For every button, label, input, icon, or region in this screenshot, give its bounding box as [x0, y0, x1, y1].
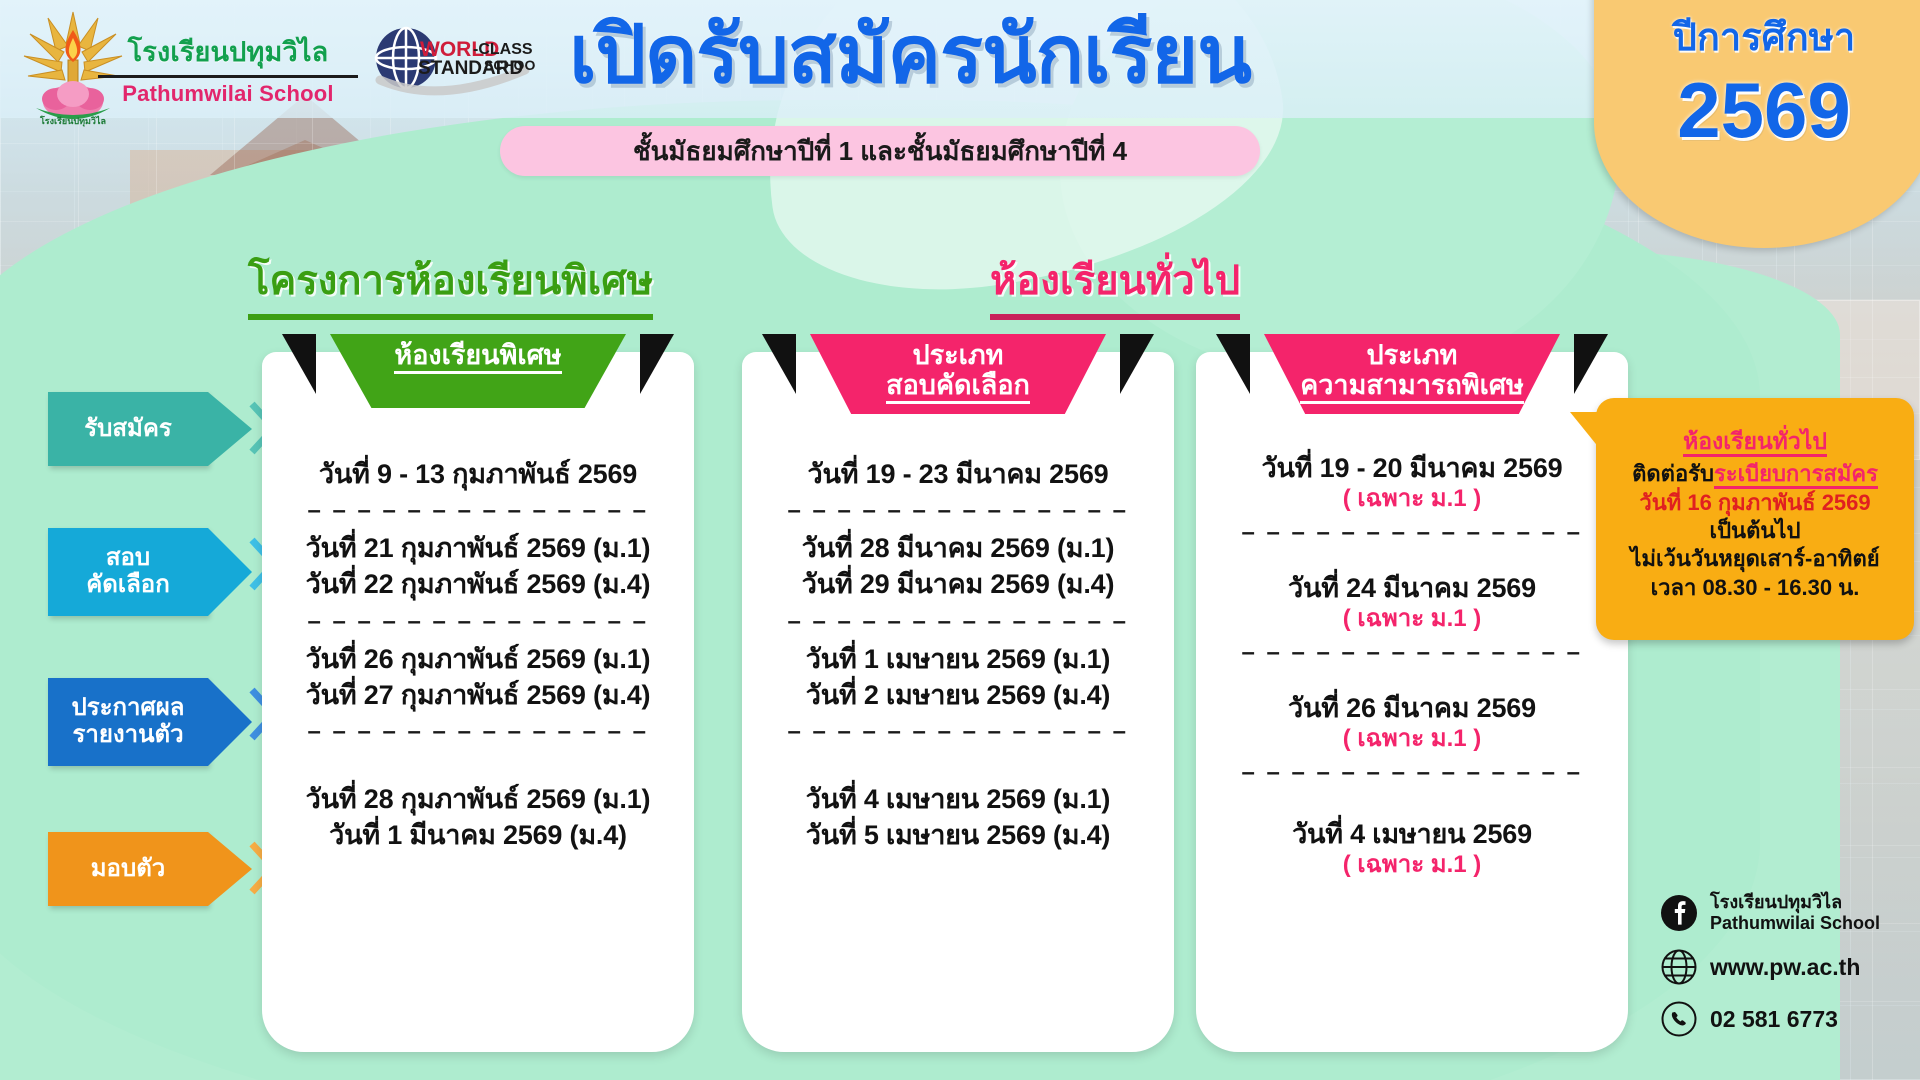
- poster-root: โรงเรียนปทุมวิไล โรงเรียนปทุมวิไล Pathum…: [0, 0, 1920, 1080]
- schedule-group: วันที่ 26 มีนาคม 2569 ( เฉพาะ ม.1 ): [1206, 690, 1618, 754]
- ribbon-wing-right: [1120, 334, 1154, 394]
- card-body: วันที่ 19 - 20 มีนาคม 2569 ( เฉพาะ ม.1 )…: [1196, 426, 1628, 1042]
- schedule-date: วันที่ 26 กุมภาพันธ์ 2569 (ม.1): [272, 641, 684, 677]
- section-title-general-program: ห้องเรียนทั่วไป: [990, 248, 1240, 320]
- schedule-card-special-classroom: ห้องเรียนพิเศษ วันที่ 9 - 13 กุมภาพันธ์ …: [262, 352, 694, 1052]
- step-arrow-icon: [208, 832, 252, 906]
- school-name-en: Pathumwilai School: [98, 81, 358, 107]
- card-body: วันที่ 19 - 23 มีนาคม 2569 – – – – – – –…: [742, 426, 1174, 1042]
- callout-contact-prefix: ติดต่อรับ: [1632, 461, 1714, 486]
- schedule-date: วันที่ 2 เมษายน 2569 (ม.4): [752, 677, 1164, 713]
- schedule-date: วันที่ 21 กุมภาพันธ์ 2569 (ม.1): [272, 530, 684, 566]
- schedule-date: วันที่ 27 กุมภาพันธ์ 2569 (ม.4): [272, 677, 684, 713]
- step-arrow-icon: [208, 392, 252, 466]
- academic-year-label: ปีการศึกษา: [1594, 6, 1920, 67]
- schedule-date: วันที่ 5 เมษายน 2569 (ม.4): [752, 817, 1164, 853]
- schedule-group: วันที่ 4 เมษายน 2569 ( เฉพาะ ม.1 ): [1206, 816, 1618, 880]
- schedule-date: วันที่ 28 มีนาคม 2569 (ม.1): [752, 530, 1164, 566]
- schedule-date: วันที่ 4 เมษายน 2569: [1206, 816, 1618, 852]
- schedule-note: ( เฉพาะ ม.1 ): [1206, 851, 1618, 880]
- card-ribbon-special-ability: ประเภท ความสามารถพิเศษ: [1264, 334, 1560, 414]
- general-classroom-callout: ห้องเรียนทั่วไป ติดต่อรับระเบียบการสมัคร…: [1596, 398, 1914, 640]
- ribbon-title-line2: ความสามารถพิเศษ: [1300, 370, 1524, 404]
- ribbon-wing-left: [1216, 334, 1250, 394]
- schedule-note: ( เฉพาะ ม.1 ): [1206, 485, 1618, 514]
- schedule-card-special-ability: ประเภท ความสามารถพิเศษ วันที่ 19 - 20 มี…: [1196, 352, 1628, 1052]
- contact-website[interactable]: www.pw.ac.th: [1660, 948, 1920, 986]
- schedule-card-exam-type: ประเภท สอบคัดเลือก วันที่ 19 - 23 มีนาคม…: [742, 352, 1174, 1052]
- step-enroll[interactable]: มอบตัว: [48, 832, 208, 906]
- divider-dashes: – – – – – – – – – – – – – –: [752, 499, 1164, 523]
- card-ribbon-special: ห้องเรียนพิเศษ: [330, 334, 626, 408]
- step-announce-label: ประกาศผลรายงานตัว: [71, 695, 184, 749]
- schedule-group: วันที่ 24 มีนาคม 2569 ( เฉพาะ ม.1 ): [1206, 570, 1618, 634]
- academic-year-value: 2569: [1594, 71, 1920, 149]
- callout-weekend-note: ไม่เว้นวันหยุดเสาร์-อาทิตย์: [1604, 545, 1906, 574]
- page-title: เปิดรับสมัครนักเรียน: [470, 14, 1350, 96]
- step-apply-label: รับสมัคร: [84, 416, 172, 443]
- schedule-date: วันที่ 4 เมษายน 2569 (ม.1): [752, 781, 1164, 817]
- schedule-date: วันที่ 29 มีนาคม 2569 (ม.4): [752, 566, 1164, 602]
- schedule-group: วันที่ 28 กุมภาพันธ์ 2569 (ม.1) วันที่ 1…: [272, 781, 684, 853]
- section-title-general-text: ห้องเรียนทั่วไป: [990, 248, 1240, 320]
- schedule-note: ( เฉพาะ ม.1 ): [1206, 725, 1618, 754]
- ribbon-title-line1: ประเภท: [1272, 340, 1552, 370]
- contact-website-text: www.pw.ac.th: [1710, 954, 1860, 981]
- callout-hours: เวลา 08.30 - 16.30 น.: [1604, 574, 1906, 603]
- card-ribbon-exam-type: ประเภท สอบคัดเลือก: [810, 334, 1106, 414]
- schedule-group: วันที่ 19 - 20 มีนาคม 2569 ( เฉพาะ ม.1 ): [1206, 450, 1618, 514]
- contact-facebook-text: โรงเรียนปทุมวิไลPathumwilai School: [1710, 892, 1880, 934]
- school-name-block: โรงเรียนปทุมวิไล Pathumwilai School: [98, 30, 358, 107]
- schedule-group: วันที่ 21 กุมภาพันธ์ 2569 (ม.1) วันที่ 2…: [272, 530, 684, 602]
- divider-dashes: – – – – – – – – – – – – – –: [1206, 521, 1618, 545]
- ribbon-wing-right: [640, 334, 674, 394]
- step-arrow-icon: [208, 678, 252, 766]
- step-announce-report[interactable]: ประกาศผลรายงานตัว: [48, 678, 208, 766]
- section-title-special-program: โครงการห้องเรียนพิเศษ: [248, 248, 653, 320]
- callout-onwards: เป็นต้นไป: [1604, 517, 1906, 546]
- schedule-date: วันที่ 1 มีนาคม 2569 (ม.4): [272, 817, 684, 853]
- callout-title: ห้องเรียนทั่วไป: [1683, 428, 1827, 457]
- phone-icon: [1660, 1000, 1698, 1038]
- schedule-group: วันที่ 9 - 13 กุมภาพันธ์ 2569: [272, 456, 684, 492]
- callout-contact-highlight: ระเบียบการสมัคร: [1714, 461, 1878, 489]
- schedule-date: วันที่ 19 - 20 มีนาคม 2569: [1206, 450, 1618, 486]
- ribbon-wing-left: [282, 334, 316, 394]
- step-apply[interactable]: รับสมัคร: [48, 392, 208, 466]
- section-title-special-text: โครงการห้องเรียนพิเศษ: [248, 248, 653, 320]
- contact-phone-text: 02 581 6773: [1710, 1006, 1838, 1033]
- school-name-divider: [98, 75, 358, 78]
- school-name-th: โรงเรียนปทุมวิไล: [98, 30, 358, 73]
- contact-block: โรงเรียนปทุมวิไลPathumwilai School www.p…: [1660, 892, 1920, 1052]
- divider-dashes: – – – – – – – – – – – – – –: [752, 610, 1164, 634]
- schedule-group: วันที่ 19 - 23 มีนาคม 2569: [752, 456, 1164, 492]
- facebook-icon: [1660, 894, 1698, 932]
- ribbon-wing-left: [762, 334, 796, 394]
- schedule-date: วันที่ 9 - 13 กุมภาพันธ์ 2569: [272, 456, 684, 492]
- schedule-date: วันที่ 24 มีนาคม 2569: [1206, 570, 1618, 606]
- schedule-date: วันที่ 22 กุมภาพันธ์ 2569 (ม.4): [272, 566, 684, 602]
- ribbon-wing-right: [1574, 334, 1608, 394]
- schedule-date: วันที่ 19 - 23 มีนาคม 2569: [752, 456, 1164, 492]
- contact-phone[interactable]: 02 581 6773: [1660, 1000, 1920, 1038]
- globe-icon: [1660, 948, 1698, 986]
- schedule-date: วันที่ 26 มีนาคม 2569: [1206, 690, 1618, 726]
- step-exam-label: สอบคัดเลือก: [86, 545, 170, 599]
- schedule-date: วันที่ 1 เมษายน 2569 (ม.1): [752, 641, 1164, 677]
- schedule-group: วันที่ 28 มีนาคม 2569 (ม.1) วันที่ 29 มี…: [752, 530, 1164, 602]
- callout-date: วันที่ 16 กุมภาพันธ์ 2569: [1604, 489, 1906, 517]
- schedule-date: วันที่ 28 กุมภาพันธ์ 2569 (ม.1): [272, 781, 684, 817]
- step-exam[interactable]: สอบคัดเลือก: [48, 528, 208, 616]
- schedule-group: วันที่ 4 เมษายน 2569 (ม.1) วันที่ 5 เมษา…: [752, 781, 1164, 853]
- divider-dashes: – – – – – – – – – – – – – –: [752, 720, 1164, 744]
- schedule-group: วันที่ 1 เมษายน 2569 (ม.1) วันที่ 2 เมษา…: [752, 641, 1164, 713]
- ribbon-title: ห้องเรียนพิเศษ: [394, 340, 561, 374]
- step-arrow-icon: [208, 528, 252, 616]
- divider-dashes: – – – – – – – – – – – – – –: [272, 610, 684, 634]
- academic-year-badge: ปีการศึกษา 2569: [1594, 0, 1920, 248]
- ribbon-title-line2: สอบคัดเลือก: [886, 370, 1030, 404]
- divider-dashes: – – – – – – – – – – – – – –: [1206, 761, 1618, 785]
- callout-contact-line: ติดต่อรับระเบียบการสมัคร: [1604, 460, 1906, 488]
- subtitle-pill: ชั้นมัธยมศึกษาปีที่ 1 และชั้นมัธยมศึกษาป…: [500, 126, 1260, 176]
- divider-dashes: – – – – – – – – – – – – – –: [272, 499, 684, 523]
- divider-dashes: – – – – – – – – – – – – – –: [272, 720, 684, 744]
- contact-facebook[interactable]: โรงเรียนปทุมวิไลPathumwilai School: [1660, 892, 1920, 934]
- svg-text:โรงเรียนปทุมวิไล: โรงเรียนปทุมวิไล: [39, 115, 106, 127]
- ribbon-title-line1: ประเภท: [818, 340, 1098, 370]
- schedule-note: ( เฉพาะ ม.1 ): [1206, 605, 1618, 634]
- schedule-group: วันที่ 26 กุมภาพันธ์ 2569 (ม.1) วันที่ 2…: [272, 641, 684, 713]
- card-body: วันที่ 9 - 13 กุมภาพันธ์ 2569 – – – – – …: [262, 426, 694, 1042]
- step-enroll-label: มอบตัว: [91, 856, 166, 883]
- divider-dashes: – – – – – – – – – – – – – –: [1206, 641, 1618, 665]
